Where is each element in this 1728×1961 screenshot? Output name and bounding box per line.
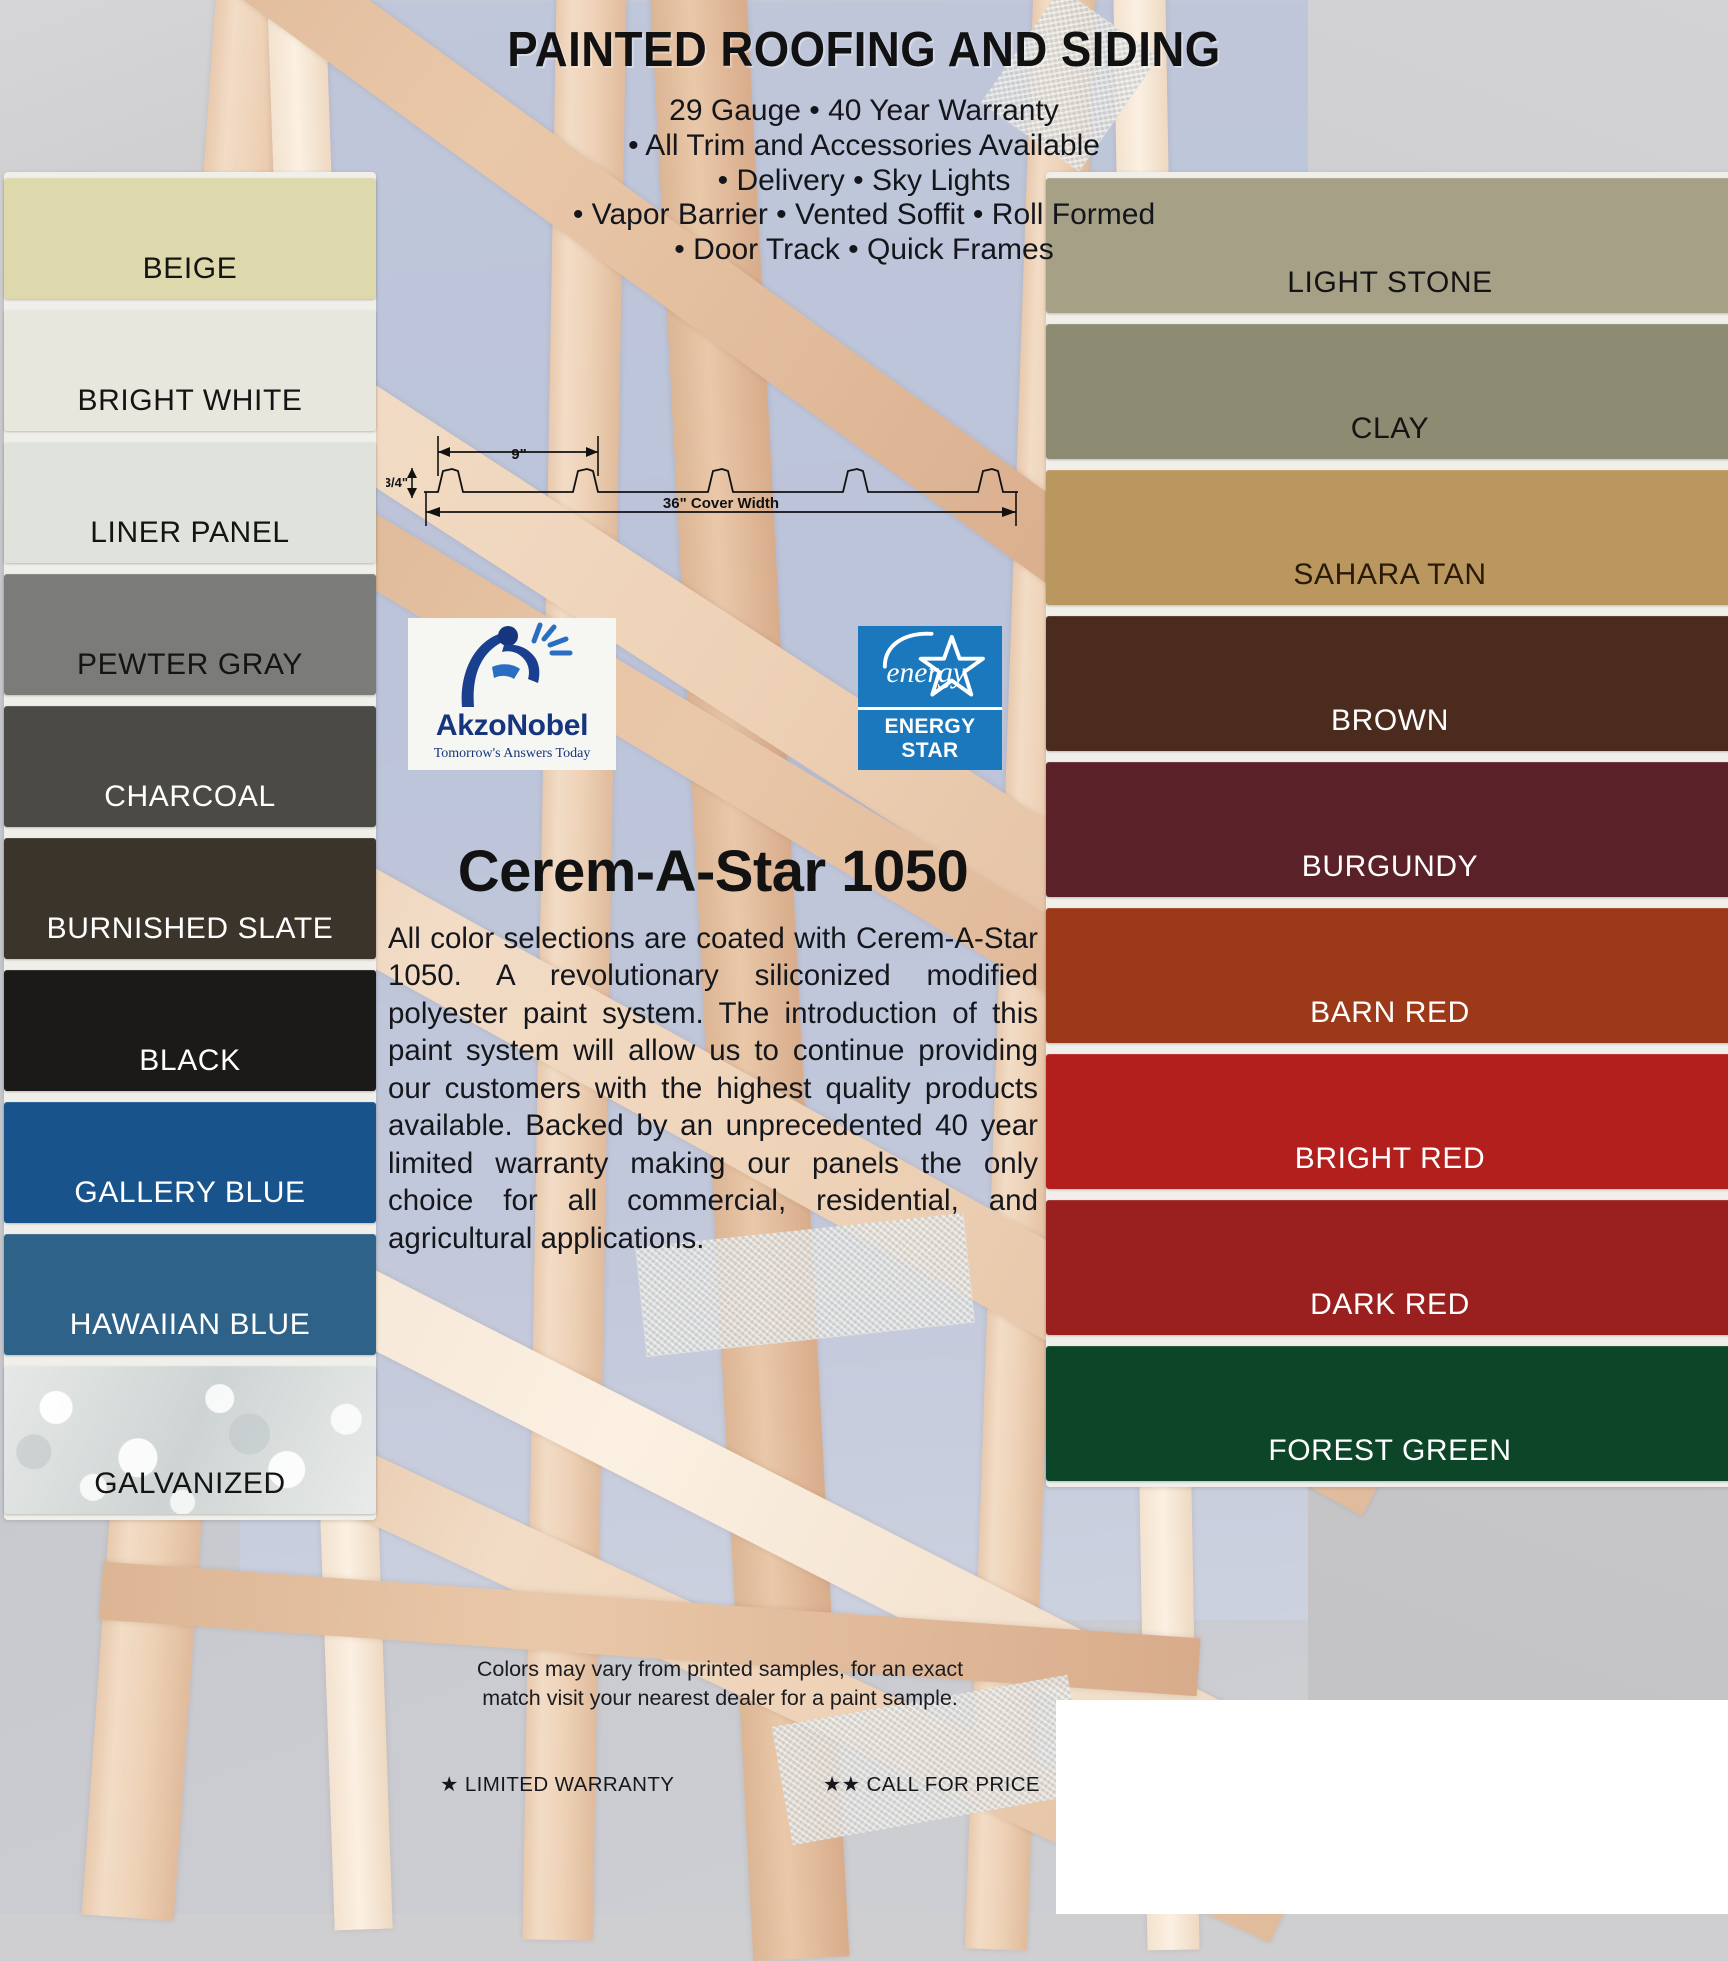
color-swatch[interactable]: BRIGHT RED [1046, 1054, 1728, 1189]
color-swatch-label: LINER PANEL [90, 516, 289, 563]
feature-line: • Delivery • Sky Lights [0, 164, 1728, 199]
color-swatch[interactable]: PEWTER GRAY [4, 574, 376, 695]
akzonobel-tagline: Tomorrow's Answers Today [434, 746, 591, 762]
color-swatch[interactable]: *LINER PANEL [4, 442, 376, 563]
color-swatch-label: BLACK [139, 1044, 240, 1091]
product-description: All color selections are coated with Cer… [388, 920, 1038, 1257]
color-swatch[interactable]: GALVANIZED [4, 1366, 376, 1514]
color-swatch-label: BARN RED [1310, 996, 1470, 1043]
bottom-white-margin [1056, 1700, 1728, 1914]
color-swatch-label: GALLERY BLUE [74, 1176, 305, 1223]
color-swatch-label: BRIGHT WHITE [78, 384, 303, 431]
color-disclaimer: Colors may vary from printed samples, fo… [470, 1655, 970, 1713]
color-swatch[interactable]: HAWAIIAN BLUE [4, 1234, 376, 1355]
profile-svg: 9" 3/4" 36" Cover Width [386, 430, 1038, 540]
akzonobel-logo: AkzoNobel Tomorrow's Answers Today [408, 618, 616, 770]
energy-star-label: ENERGY STAR [858, 707, 1002, 770]
feature-line: • All Trim and Accessories Available [0, 129, 1728, 164]
color-swatch-label: DARK RED [1310, 1288, 1470, 1335]
page-title: PAINTED ROOFING AND SIDING [60, 22, 1667, 78]
svg-text:9": 9" [511, 446, 526, 463]
color-swatch[interactable]: BURGUNDY [1046, 762, 1728, 897]
color-swatch-label: FOREST GREEN [1268, 1434, 1511, 1481]
color-swatch[interactable]: BRIGHT WHITE [4, 310, 376, 431]
color-swatch[interactable]: BLACK [4, 970, 376, 1091]
header: PAINTED ROOFING AND SIDING 29 Gauge • 40… [0, 0, 1728, 300]
product-brand-name: Cerem-A-Star 1050 [388, 838, 1038, 905]
color-swatch[interactable]: BURNISHED SLATE [4, 838, 376, 959]
color-swatch-label: SAHARA TAN [1293, 558, 1486, 605]
svg-text:36" Cover Width: 36" Cover Width [663, 495, 779, 512]
color-swatch-label: PEWTER GRAY [77, 648, 303, 695]
color-swatch-label: CHARCOAL [104, 780, 276, 827]
color-swatch[interactable]: SAHARA TAN [1046, 470, 1728, 605]
svg-text:3/4": 3/4" [386, 475, 408, 490]
energy-star-logo: energy ENERGY STAR [858, 626, 1002, 770]
color-swatch-column-left: BEIGEBRIGHT WHITE*LINER PANELPEWTER GRAY… [4, 172, 376, 1520]
color-swatch[interactable]: BROWN [1046, 616, 1728, 751]
color-swatch[interactable]: CLAY [1046, 324, 1728, 459]
color-swatch[interactable]: FOREST GREEN [1046, 1346, 1728, 1481]
feature-list: 29 Gauge • 40 Year Warranty • All Trim a… [0, 94, 1728, 268]
color-swatch-label: HAWAIIAN BLUE [70, 1308, 311, 1355]
color-swatch[interactable]: BARN RED [1046, 908, 1728, 1043]
color-swatch-label: GALVANIZED [94, 1467, 286, 1514]
feature-line: • Door Track • Quick Frames [0, 233, 1728, 268]
color-swatch-label: BROWN [1331, 704, 1449, 751]
footnote-legend: ★ LIMITED WARRANTY ★★ CALL FOR PRICE [440, 1772, 1040, 1797]
footnote-limited-warranty: ★ LIMITED WARRANTY [440, 1772, 674, 1797]
logo-row: AkzoNobel Tomorrow's Answers Today energ… [380, 618, 1044, 778]
akzonobel-figure-icon [448, 619, 576, 711]
energy-star-icon: energy [858, 626, 1002, 707]
akzonobel-wordmark: AkzoNobel [436, 711, 588, 741]
feature-line: • Vapor Barrier • Vented Soffit • Roll F… [0, 198, 1728, 233]
color-swatch-label: CLAY [1351, 412, 1430, 459]
color-swatch[interactable]: GALLERY BLUE [4, 1102, 376, 1223]
panel-profile-diagram: 9" 3/4" 36" Cover Width [386, 430, 1038, 540]
color-swatch-label: BRIGHT RED [1295, 1142, 1485, 1189]
energy-word: energy [886, 657, 966, 689]
feature-line: 29 Gauge • 40 Year Warranty [0, 94, 1728, 129]
color-swatch-label: BURNISHED SLATE [47, 912, 334, 959]
color-swatch-label: BURGUNDY [1302, 850, 1478, 897]
color-swatch[interactable]: CHARCOAL [4, 706, 376, 827]
color-swatch-column-right: LIGHT STONECLAYSAHARA TANBROWNBURGUNDYBA… [1046, 172, 1728, 1487]
color-swatch[interactable]: DARK RED [1046, 1200, 1728, 1335]
footnote-call-for-price: ★★ CALL FOR PRICE [823, 1772, 1040, 1797]
